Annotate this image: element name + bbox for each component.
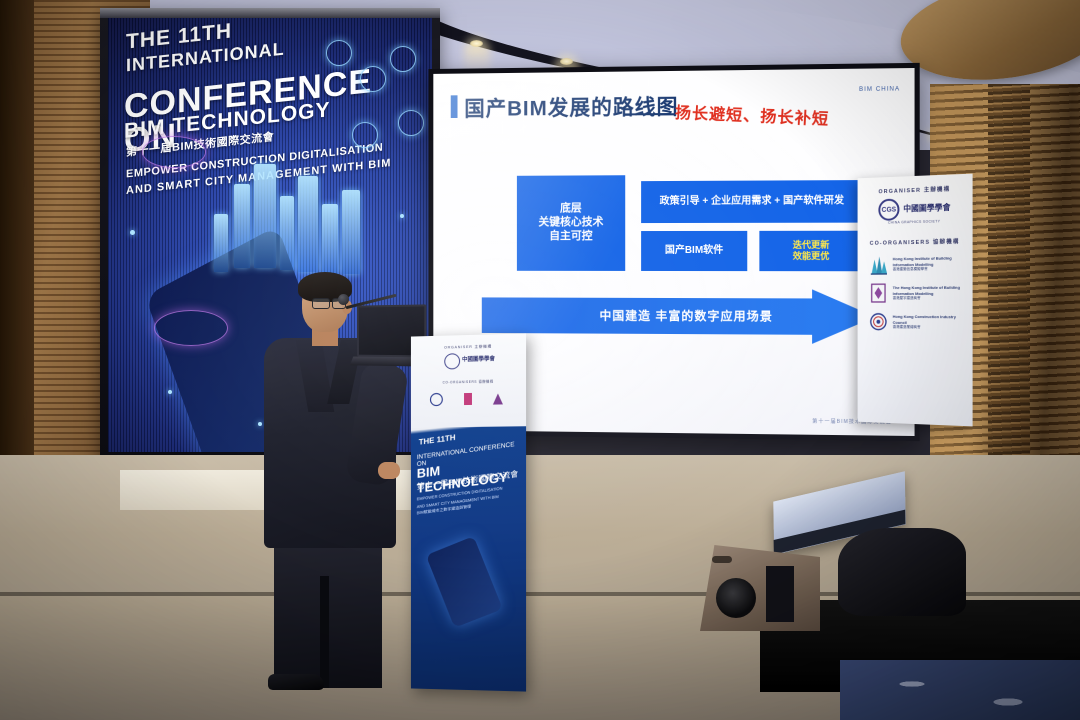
conference-hall-photo: THE 11TH INTERNATIONAL CONFERENCE ON BIM… [0, 0, 1080, 720]
city-tower [280, 196, 294, 270]
slide-arrow: 中国建造 丰富的数字应用场景 [482, 289, 882, 345]
city-tower [254, 164, 276, 268]
speaker-handle [712, 556, 732, 563]
network-node-icon [326, 40, 352, 66]
coorganiser-name-zh: 香港建造業總商會 [893, 325, 921, 329]
lectern-line-1: THE 11TH [419, 433, 456, 447]
presenter-shoe [268, 674, 324, 690]
black-cloth-cover [838, 528, 966, 616]
box-line: 效能更优 [793, 251, 830, 262]
eyeglasses-icon [312, 298, 330, 309]
network-node-icon [390, 46, 416, 72]
sponsor-banner: ORGANISER 主辦機構 CGS 中國圖學學會 CHINA GRAPHICS… [858, 174, 973, 427]
slide-subtitle: 扬长避短、扬长补短 [674, 99, 829, 130]
network-node-icon [360, 66, 386, 92]
hall-carpet [840, 660, 1080, 720]
glow-dot [130, 230, 135, 235]
lectern-logo-3-icon [490, 390, 506, 406]
speaker-driver-grill [716, 578, 756, 618]
slide-box-software: 国产BIM软件 [641, 231, 747, 271]
box-line: 关键核心技术 [538, 216, 603, 230]
organiser-logo-row: CGS 中國圖學學會 [865, 196, 964, 221]
building-logo-icon [869, 253, 888, 275]
coorganiser-row: Hong Kong Construction Industry Council … [865, 311, 964, 334]
city-tower [342, 190, 360, 274]
speaker-connector-panel [766, 566, 794, 622]
network-node-icon [352, 122, 378, 148]
coorganiser-row: Hong Kong Institute of Building Informat… [865, 252, 964, 275]
coorganiser-name-en: Hong Kong Construction Industry Council [893, 314, 965, 325]
lectern-panel: ORGANISER 主辦機構 中國圖學學會 CO-ORGANISERS 協辦機構… [411, 333, 526, 691]
city-tower [234, 184, 250, 268]
council-logo-icon [869, 311, 888, 333]
lectern-logo-2-icon [460, 391, 476, 407]
city-tower [214, 214, 228, 272]
box-line: 自主可控 [549, 230, 592, 244]
presenter-leg-gap [320, 576, 329, 688]
slide-box-drivers: 政策引导 + 企业应用需求 + 国产软件研发 [641, 180, 863, 223]
coorganiser-heading: CO-ORGANISERS 協辦機構 [865, 237, 964, 247]
coorganiser-text: The Hong Kong Institute of Building Info… [893, 285, 965, 301]
organiser-seal-icon: CGS [878, 198, 899, 220]
coorganiser-row: The Hong Kong Institute of Building Info… [865, 282, 964, 304]
slide-box-foundation: 底层 关键核心技术 自主可控 [517, 175, 625, 271]
title-accent-bar [451, 95, 458, 118]
city-tower [298, 176, 318, 272]
lectern-logo-1-icon [429, 391, 445, 407]
lectern-organiser-name: 中國圖學學會 [462, 354, 495, 363]
coorganiser-name-zh: 香港屋宇建造商會 [893, 296, 921, 300]
title-connector [624, 113, 670, 115]
coorganiser-name-en: Hong Kong Institute of Building Informat… [893, 255, 965, 267]
glow-dot [400, 214, 404, 218]
coorganiser-text: Hong Kong Construction Industry Council … [893, 314, 965, 330]
data-ring [142, 136, 206, 168]
box-line: 底层 [560, 203, 582, 217]
institute-logo-icon [869, 282, 888, 304]
coorganiser-name-zh: 香港建築信息模擬學會 [893, 267, 928, 271]
presenter-hand [378, 462, 400, 479]
microphone-icon [338, 294, 349, 305]
organiser-name: 中國圖學學會 [903, 203, 950, 213]
glow-dot [168, 390, 172, 394]
lectern-smartphone-graphic [426, 536, 503, 628]
wood-wall-left-shadow [0, 0, 34, 470]
arrow-label: 中国建造 丰富的数字应用场景 [599, 307, 772, 325]
slide-box-iteration: 迭代更新 效能更优 [759, 231, 863, 272]
coorganiser-text: Hong Kong Institute of Building Informat… [893, 255, 965, 272]
city-tower [322, 204, 338, 274]
lectern: ORGANISER 主辦機構 中國圖學學會 CO-ORGANISERS 協辦機構… [411, 333, 526, 691]
organiser-heading: ORGANISER 主辦機構 [865, 184, 964, 196]
coorganiser-name-en: The Hong Kong Institute of Building Info… [893, 285, 965, 296]
network-node-icon [398, 110, 424, 136]
slide-title: 国产BIM发展的路线图 [464, 91, 678, 123]
slide-corner-logo: BIM CHINA [859, 86, 900, 93]
box-line: 迭代更新 [793, 240, 830, 251]
data-ring [154, 310, 228, 346]
